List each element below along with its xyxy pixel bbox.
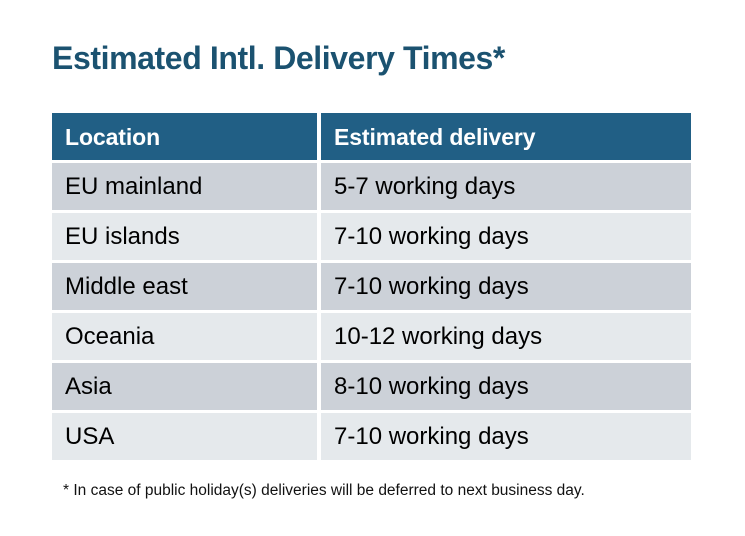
cell-delivery: 7-10 working days <box>321 413 691 460</box>
cell-location: USA <box>52 413 317 460</box>
cell-location: Middle east <box>52 263 317 310</box>
cell-location: EU mainland <box>52 163 317 210</box>
cell-location: EU islands <box>52 213 317 260</box>
footnote-text: * In case of public holiday(s) deliverie… <box>63 481 585 501</box>
table-header-row: Location Estimated delivery <box>52 113 691 160</box>
column-header-estimated-delivery: Estimated delivery <box>321 113 691 160</box>
cell-delivery: 10-12 working days <box>321 313 691 360</box>
delivery-times-page: Estimated Intl. Delivery Times* Location… <box>0 0 745 536</box>
column-header-location: Location <box>52 113 317 160</box>
cell-location: Oceania <box>52 313 317 360</box>
delivery-times-table: Location Estimated delivery EU mainland … <box>52 113 691 460</box>
cell-delivery: 5-7 working days <box>321 163 691 210</box>
table-row: EU mainland 5-7 working days <box>52 163 691 210</box>
table-row: Middle east 7-10 working days <box>52 263 691 310</box>
cell-location: Asia <box>52 363 317 410</box>
cell-delivery: 7-10 working days <box>321 213 691 260</box>
cell-delivery: 8-10 working days <box>321 363 691 410</box>
page-title: Estimated Intl. Delivery Times* <box>52 38 505 78</box>
table-row: Asia 8-10 working days <box>52 363 691 410</box>
table-row: EU islands 7-10 working days <box>52 213 691 260</box>
table-row: USA 7-10 working days <box>52 413 691 460</box>
cell-delivery: 7-10 working days <box>321 263 691 310</box>
table-row: Oceania 10-12 working days <box>52 313 691 360</box>
